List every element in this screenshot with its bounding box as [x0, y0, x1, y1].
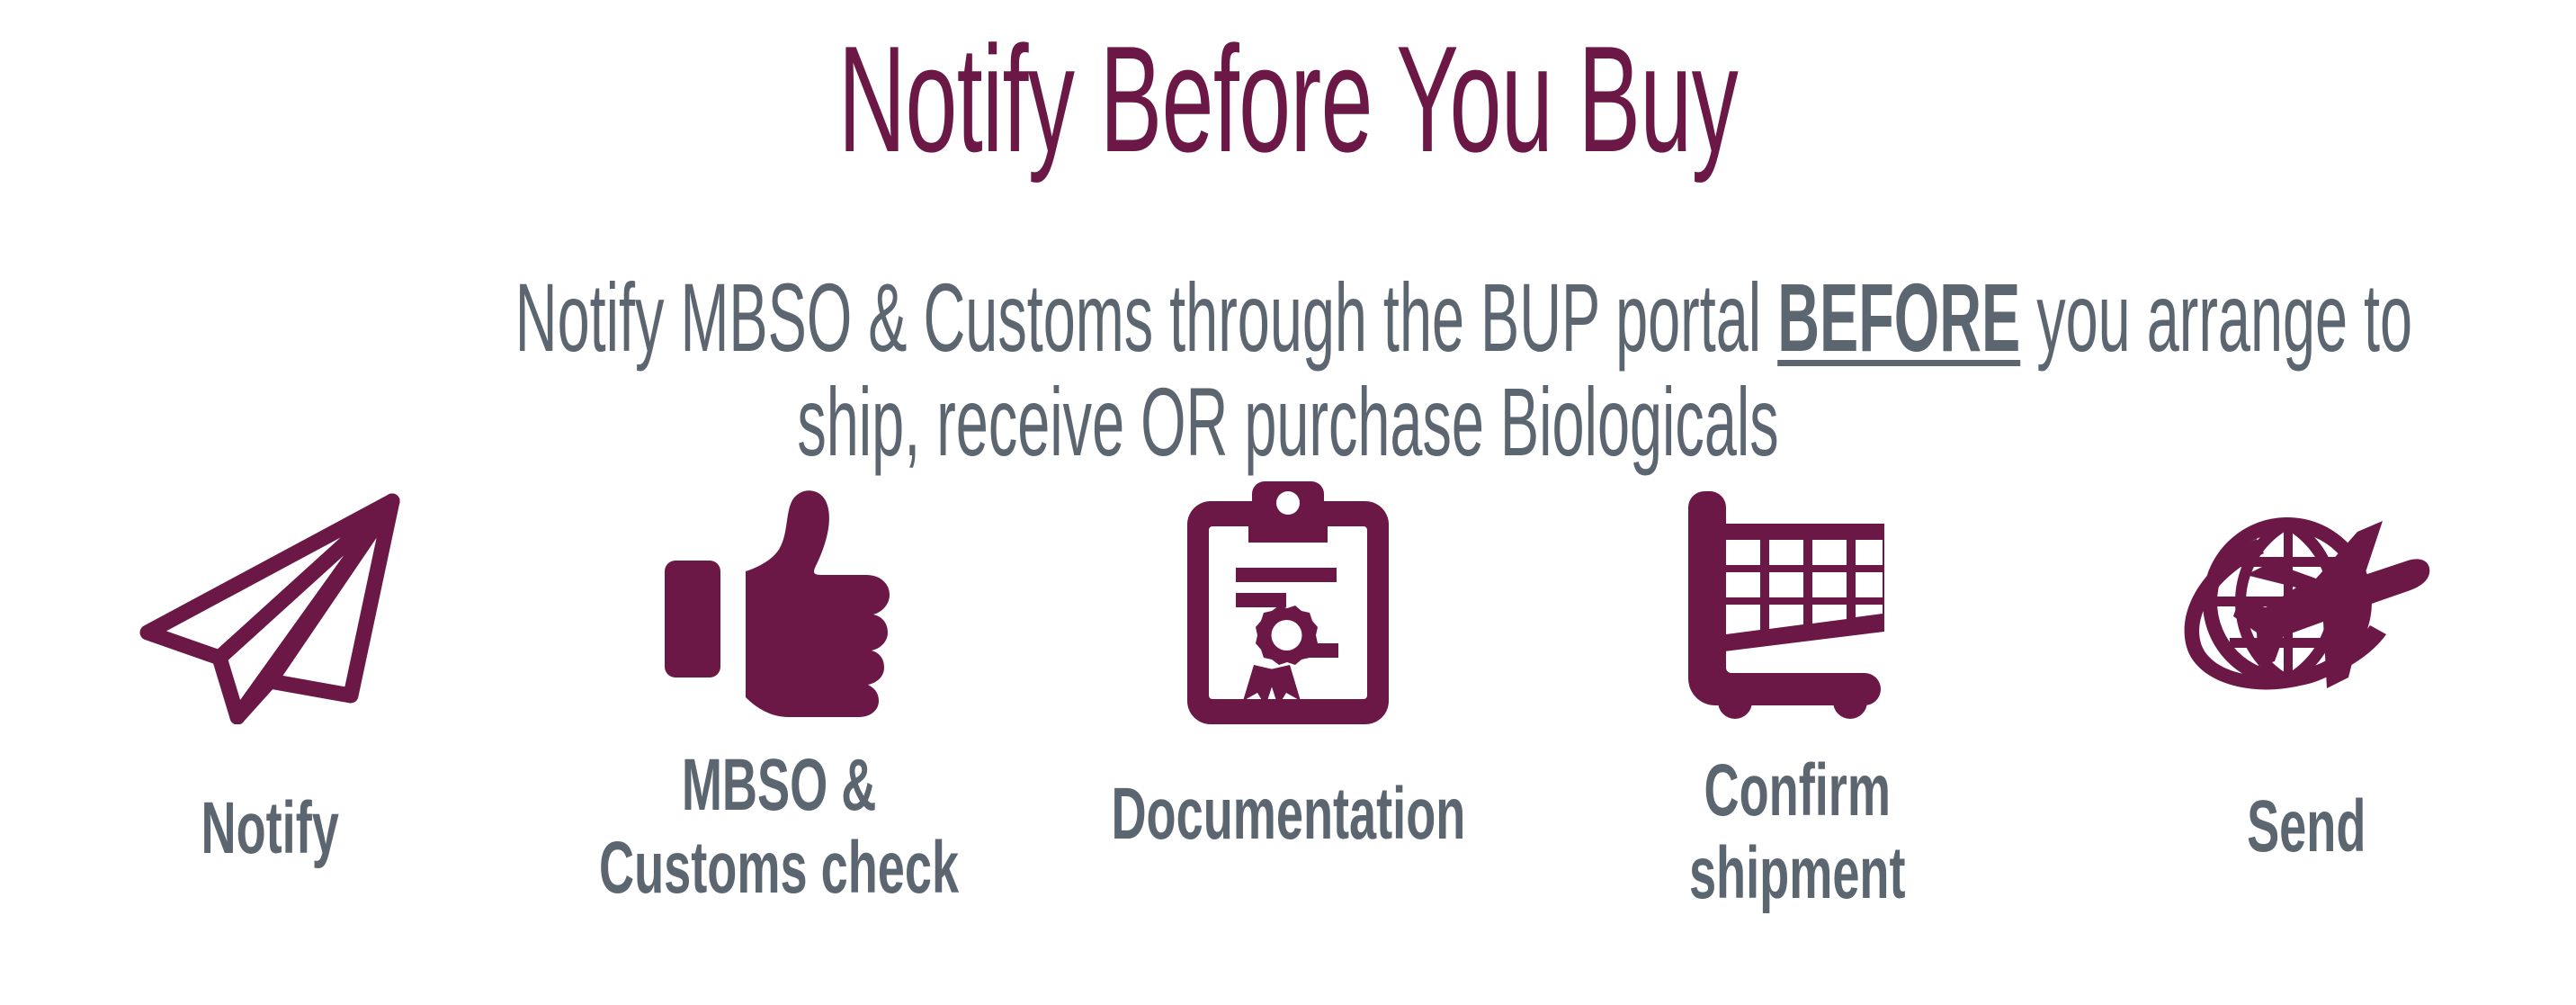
- subtitle: Notify MBSO & Customs through the BUP po…: [515, 265, 2061, 473]
- shopping-cart-icon: [1679, 472, 1915, 742]
- step-confirm-shipment-label: Confirm shipment: [1689, 749, 1906, 915]
- clipboard-certificate-icon: [1184, 472, 1392, 733]
- globe-airplane-icon: [2181, 472, 2431, 739]
- slide-canvas: Notify Before You Buy Notify MBSO & Cust…: [0, 0, 2576, 1005]
- thumbs-up-icon: [657, 472, 900, 733]
- subtitle-line-2: ship, receive OR purchase Biologicals: [515, 370, 2061, 474]
- paper-plane-icon: [135, 472, 405, 737]
- step-documentation-label: Documentation: [1111, 773, 1465, 856]
- subtitle-line-1-after: you arrange to: [2020, 263, 2412, 372]
- subtitle-line-1-before: Notify MBSO & Customs through the BUP po…: [515, 263, 1777, 372]
- step-notify: Notify: [18, 472, 522, 870]
- step-mbso-customs-check-label: MBSO & Customs check: [599, 744, 959, 910]
- step-notify-label: Notify: [201, 787, 338, 870]
- step-confirm-shipment: Confirm shipment: [1545, 472, 2049, 915]
- subtitle-emphasis-before: BEFORE: [1777, 263, 2020, 372]
- page-title: Notify Before You Buy: [489, 20, 2087, 178]
- step-documentation: Documentation: [1036, 472, 1540, 856]
- process-steps: Notify MBSO & Customs check: [0, 472, 2576, 1005]
- step-mbso-customs-check: MBSO & Customs check: [527, 472, 1031, 910]
- step-send-label: Send: [2247, 785, 2366, 868]
- step-send: Send: [2054, 472, 2558, 868]
- subtitle-line-1: Notify MBSO & Customs through the BUP po…: [515, 265, 2061, 370]
